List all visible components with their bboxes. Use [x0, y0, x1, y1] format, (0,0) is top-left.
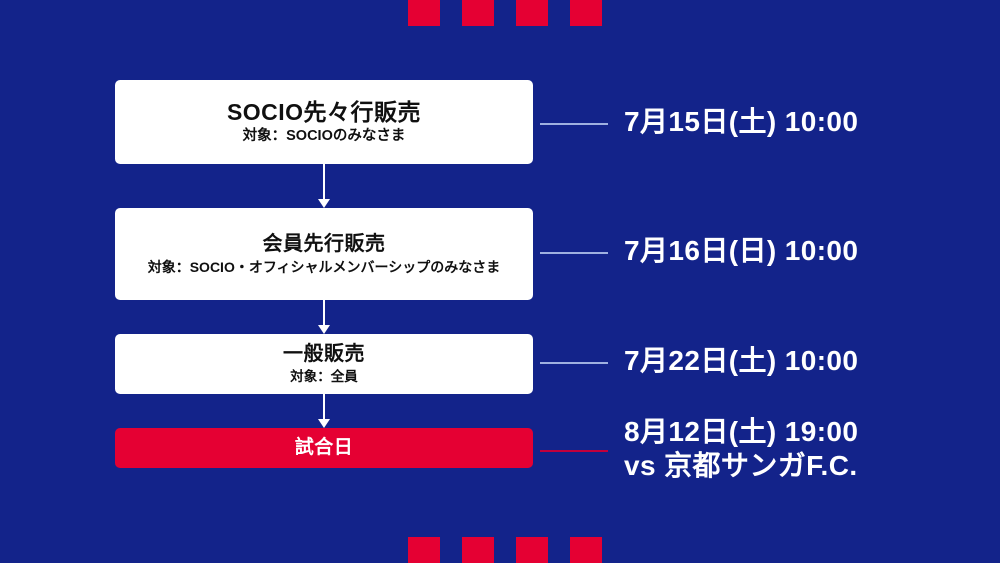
flow-step-date: 8月12日(土) 19:00 vs 京都サンガF.C.: [624, 415, 858, 483]
flow-step-title: 一般販売: [283, 343, 365, 366]
connector-line: [540, 252, 608, 254]
connector-line: [540, 362, 608, 364]
flow-step-subtitle: 対象：全員: [290, 369, 358, 385]
arrow-down-icon: [322, 394, 326, 428]
flow-step-socio-advance-sale: SOCIO先々行販売 対象：SOCIOのみなさま: [115, 80, 533, 164]
match-opponent-line: vs 京都サンガF.C.: [624, 449, 858, 483]
arrow-shaft: [323, 394, 325, 419]
ticket-sales-schedule-graphic: SOCIO先々行販売 対象：SOCIOのみなさま 会員先行販売 対象：SOCIO…: [0, 0, 1000, 563]
connector-line: [540, 450, 608, 452]
arrow-head: [318, 199, 330, 208]
arrow-head: [318, 325, 330, 334]
sales-flow-chart: SOCIO先々行販売 対象：SOCIOのみなさま 会員先行販売 対象：SOCIO…: [0, 0, 1000, 563]
arrow-down-icon: [322, 164, 326, 208]
flow-step-title: SOCIO先々行販売: [227, 99, 421, 125]
flow-step-subtitle: 対象：SOCIO・オフィシャルメンバーシップのみなさま: [148, 259, 501, 276]
flow-step-title: 会員先行販売: [263, 233, 386, 256]
flow-step-match-day: 試合日: [115, 428, 533, 468]
arrow-shaft: [323, 300, 325, 325]
flow-step-date: 7月22日(土) 10:00: [624, 344, 858, 378]
flow-step-title: 試合日: [295, 437, 354, 459]
connector-line: [540, 123, 608, 125]
match-date-line: 8月12日(土) 19:00: [624, 415, 858, 449]
arrow-down-icon: [322, 300, 326, 334]
flow-step-subtitle: 対象：SOCIOのみなさま: [243, 128, 406, 145]
flow-step-general-sale: 一般販売 対象：全員: [115, 334, 533, 394]
flow-step-member-presale: 会員先行販売 対象：SOCIO・オフィシャルメンバーシップのみなさま: [115, 208, 533, 300]
flow-step-date: 7月16日(日) 10:00: [624, 234, 858, 268]
arrow-shaft: [323, 164, 325, 199]
flow-step-date: 7月15日(土) 10:00: [624, 105, 858, 139]
arrow-head: [318, 419, 330, 428]
